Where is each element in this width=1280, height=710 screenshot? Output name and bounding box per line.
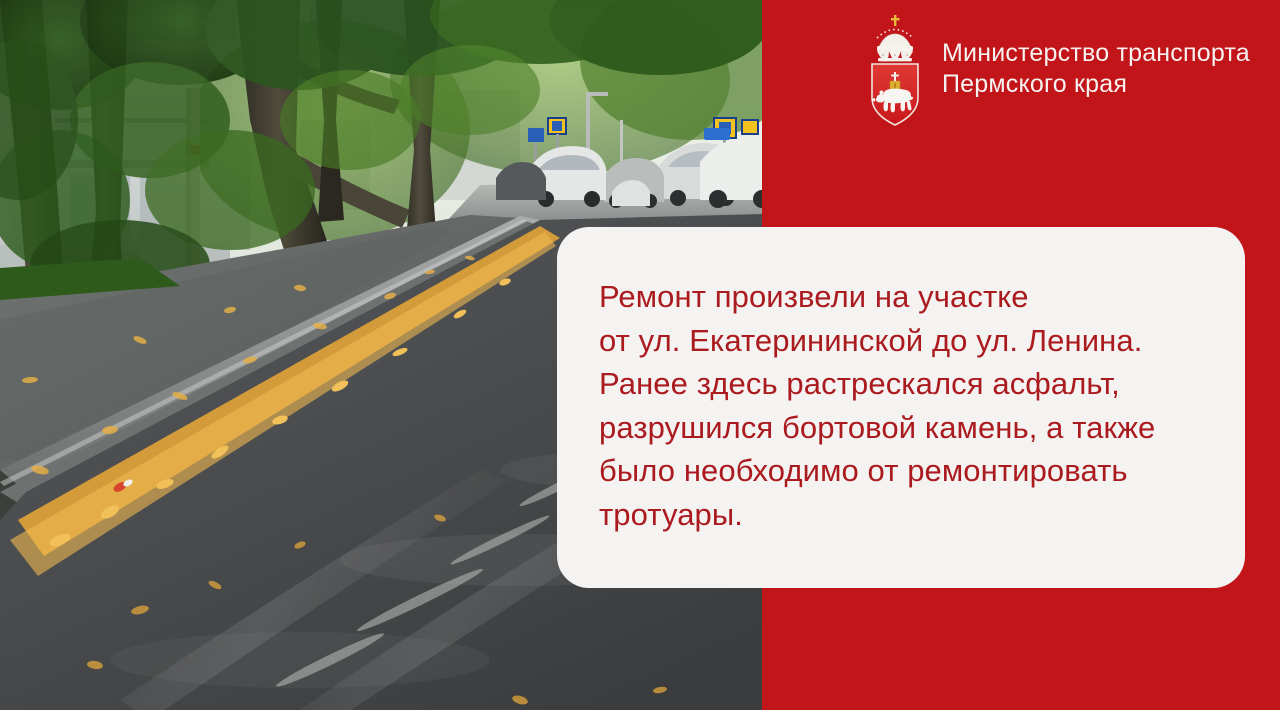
- brand-header: Министерство транспорта Пермского края: [864, 14, 1250, 126]
- crown-icon: [877, 15, 913, 61]
- caption-card: Ремонт произвели на участке от ул. Екате…: [557, 227, 1245, 588]
- caption-line-6: тротуары.: [599, 493, 1203, 537]
- organization-name: Министерство транспорта Пермского края: [942, 14, 1250, 100]
- caption-line-3: Ранее здесь растрескался асфальт,: [599, 362, 1203, 406]
- caption-text: Ремонт произвели на участке от ул. Екате…: [599, 275, 1203, 536]
- shield-icon: [872, 64, 918, 125]
- org-line-2: Пермского края: [942, 69, 1250, 100]
- poster-root: Министерство транспорта Пермского края Р…: [0, 0, 1280, 710]
- caption-line-1: Ремонт произвели на участке: [599, 275, 1203, 319]
- caption-line-4: разрушился бортовой камень, а также: [599, 406, 1203, 450]
- org-line-1: Министерство транспорта: [942, 38, 1250, 69]
- perm-krai-coat-of-arms-icon: [864, 14, 926, 126]
- caption-line-2: от ул. Екатерининской до ул. Ленина.: [599, 319, 1203, 363]
- caption-line-5: было необходимо от ремонтировать: [599, 449, 1203, 493]
